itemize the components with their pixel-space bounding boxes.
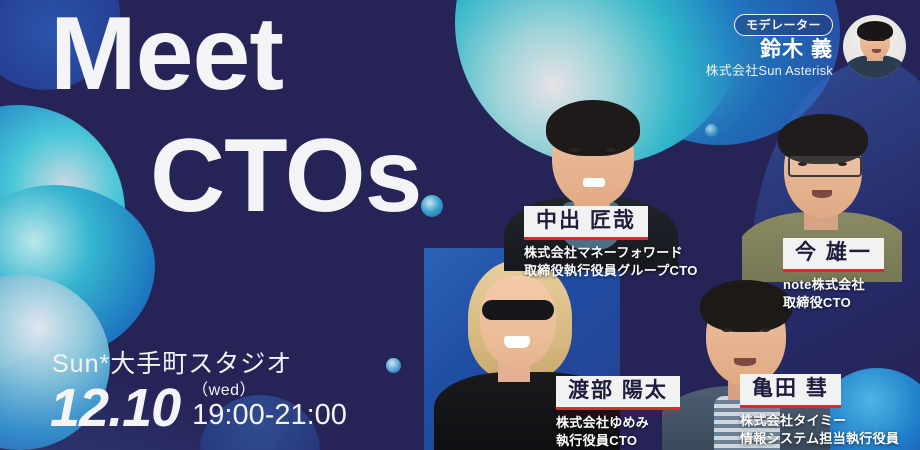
eyeglasses-icon <box>788 156 862 177</box>
face-shape <box>480 276 556 368</box>
speaker-company: note株式会社 <box>783 276 884 294</box>
event-banner: Meet CTOs Sun*大手町スタジオ 12.10 （wed） 19:00-… <box>0 0 920 450</box>
hair-shape <box>700 280 792 332</box>
headline-line-2: CTOs <box>150 124 422 228</box>
event-day-of-week: （wed） <box>192 382 347 400</box>
hair-shape <box>546 100 640 156</box>
nameplate-kameda: 亀田 彗 株式会社タイミー 情報システム担当執行役員 <box>740 374 899 449</box>
moderator-avatar <box>843 15 906 78</box>
speaker-company: 株式会社ゆめみ <box>556 414 680 432</box>
sunglasses-icon <box>482 300 554 320</box>
moderator-name: 鈴木 義 <box>760 38 833 62</box>
speaker-name: 亀田 彗 <box>740 374 841 408</box>
headline-line-1: Meet <box>50 2 283 106</box>
nameplate-kon: 今 雄一 note株式会社 取締役CTO <box>783 238 884 313</box>
speaker-name: 渡部 陽太 <box>556 376 680 410</box>
nameplate-watanabe: 渡部 陽太 株式会社ゆめみ 執行役員CTO <box>556 376 680 450</box>
gradient-dot-small-lower <box>386 358 401 373</box>
moderator-company: 株式会社Sun Asterisk <box>706 64 833 79</box>
speaker-title: 取締役執行役員グループCTO <box>524 262 698 280</box>
speaker-name: 中出 匠哉 <box>524 206 648 240</box>
speaker-title: 取締役CTO <box>783 294 884 312</box>
venue-label: Sun*大手町スタジオ <box>52 344 292 380</box>
speaker-title: 執行役員CTO <box>556 432 680 450</box>
moderator-role-badge: モデレーター <box>734 14 833 36</box>
nameplate-nakade: 中出 匠哉 株式会社マネーフォワード 取締役執行役員グループCTO <box>524 206 698 281</box>
gradient-dot-small-upper <box>421 195 443 217</box>
event-datetime: 12.10 （wed） 19:00-21:00 <box>50 382 347 435</box>
speaker-company: 株式会社マネーフォワード <box>524 244 698 262</box>
event-date: 12.10 <box>50 382 180 435</box>
gradient-dot-small-right <box>705 124 718 137</box>
speaker-company: 株式会社タイミー <box>740 412 899 430</box>
moderator-block: モデレーター 鈴木 義 株式会社Sun Asterisk <box>706 14 906 78</box>
event-time-range: 19:00-21:00 <box>192 400 347 430</box>
speaker-title: 情報システム担当執行役員 <box>740 430 899 448</box>
speaker-name: 今 雄一 <box>783 238 884 272</box>
